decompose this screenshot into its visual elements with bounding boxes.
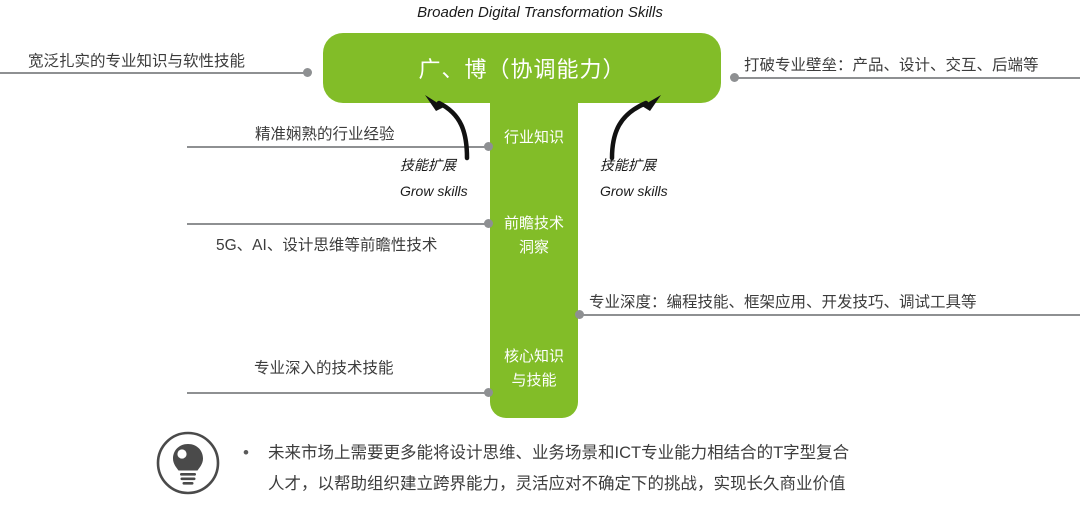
grow-skills-left-cn: 技能扩展 [400, 152, 468, 178]
connector-dot-left-4 [484, 388, 493, 397]
connector-dot-left-1 [303, 68, 312, 77]
grow-skills-annotation-left: 技能扩展 Grow skills [400, 152, 468, 204]
connector-dot-right-2 [575, 310, 584, 319]
stem-label-core-knowledge: 核心知识与技能 [490, 345, 578, 393]
grow-skills-left-en: Grow skills [400, 178, 468, 204]
callout-left-1: 宽泛扎实的专业知识与软性技能 [28, 49, 245, 71]
grow-skills-right-en: Grow skills [600, 178, 668, 204]
connector-dot-left-3 [484, 219, 493, 228]
stem-label-industry-knowledge: 行业知识 [490, 126, 578, 150]
footer-text: 未来市场上需要更多能将设计思维、业务场景和ICT专业能力相结合的T字型复合 人才… [268, 438, 1058, 500]
connector-line-left-4 [187, 392, 490, 394]
grow-skills-right-cn: 技能扩展 [600, 152, 668, 178]
connector-line-right-2 [578, 314, 1080, 316]
footer-text-line-2: 人才，以帮助组织建立跨界能力，灵活应对不确定下的挑战，实现长久商业价值 [268, 469, 1058, 500]
page-title: Broaden Digital Transformation Skills [0, 4, 1080, 21]
t-shaped-skills-diagram: Broaden Digital Transformation Skills 广、… [0, 0, 1080, 507]
grow-skills-annotation-right: 技能扩展 Grow skills [600, 152, 668, 204]
stem-label-forward-looking-tech: 前瞻技术洞察 [490, 212, 578, 260]
footer-insight: • 未来市场上需要更多能将设计思维、业务场景和ICT专业能力相结合的T字型复合 … [155, 428, 1055, 504]
connector-line-right-1 [733, 77, 1080, 79]
connector-line-left-1 [0, 72, 308, 74]
callout-right-1: 打破专业壁垒：产品、设计、交互、后端等 [744, 53, 1039, 75]
connector-dot-right-1 [730, 73, 739, 82]
callout-right-2: 专业深度：编程技能、框架应用、开发技巧、调试工具等 [589, 290, 977, 312]
footer-bullet-marker: • [243, 444, 249, 461]
callout-left-4: 专业深入的技术技能 [254, 356, 394, 378]
connector-line-left-3 [187, 223, 490, 225]
callout-left-3: 5G、AI、设计思维等前瞻性技术 [216, 233, 437, 255]
callout-left-2: 精准娴熟的行业经验 [255, 122, 395, 144]
footer-text-line-1: 未来市场上需要更多能将设计思维、业务场景和ICT专业能力相结合的T字型复合 [268, 438, 1058, 469]
lightbulb-icon [155, 430, 221, 496]
